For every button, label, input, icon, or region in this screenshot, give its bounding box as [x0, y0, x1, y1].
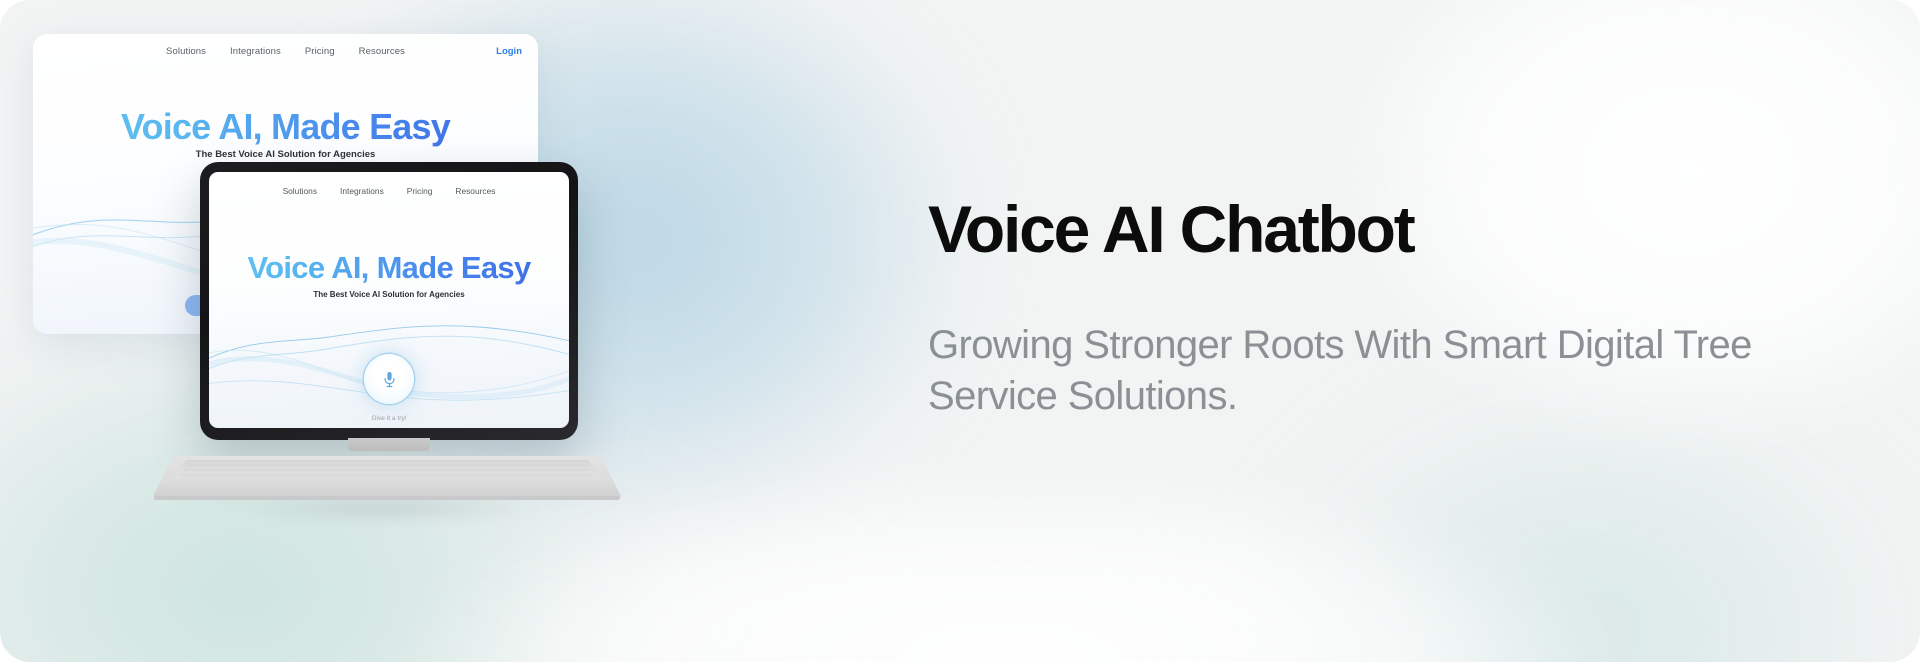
rear-login-link[interactable]: Login — [496, 46, 522, 57]
front-nav-item-pricing[interactable]: Pricing — [407, 186, 433, 196]
front-nav-item-resources[interactable]: Resources — [455, 186, 495, 196]
rear-device-nav: Solutions Integrations Pricing Resources — [33, 46, 538, 57]
front-nav-item-integrations[interactable]: Integrations — [340, 186, 384, 196]
front-device-nav: Solutions Integrations Pricing Resources — [209, 186, 569, 196]
rear-headline: Voice AI, Made Easy — [33, 106, 538, 148]
front-tagline: The Best Voice AI Solution for Agencies — [209, 290, 569, 299]
page-subtitle: Growing Stronger Roots With Smart Digita… — [928, 320, 1833, 422]
rear-nav-item-solutions[interactable]: Solutions — [166, 46, 206, 57]
front-headline: Voice AI, Made Easy — [209, 250, 569, 286]
microphone-icon — [383, 371, 396, 388]
laptop-base — [152, 450, 622, 506]
rear-nav-item-integrations[interactable]: Integrations — [230, 46, 281, 57]
front-mic-button[interactable] — [364, 354, 414, 404]
front-nav-item-solutions[interactable]: Solutions — [283, 186, 317, 196]
front-mic-hint: Give it a try! — [209, 415, 569, 422]
rear-nav-item-pricing[interactable]: Pricing — [305, 46, 335, 57]
page-title: Voice AI Chatbot — [928, 196, 1858, 262]
rear-nav-item-resources[interactable]: Resources — [359, 46, 405, 57]
front-device-screen: Solutions Integrations Pricing Resources… — [209, 172, 569, 428]
hero-copy-column: Voice AI Chatbot Growing Stronger Roots … — [928, 196, 1858, 422]
rear-tagline: The Best Voice AI Solution for Agencies — [33, 149, 538, 160]
front-device-mockup: Solutions Integrations Pricing Resources… — [152, 162, 622, 522]
hero-banner-card: Solutions Integrations Pricing Resources… — [0, 0, 1920, 662]
laptop-lid: Solutions Integrations Pricing Resources… — [200, 162, 578, 440]
